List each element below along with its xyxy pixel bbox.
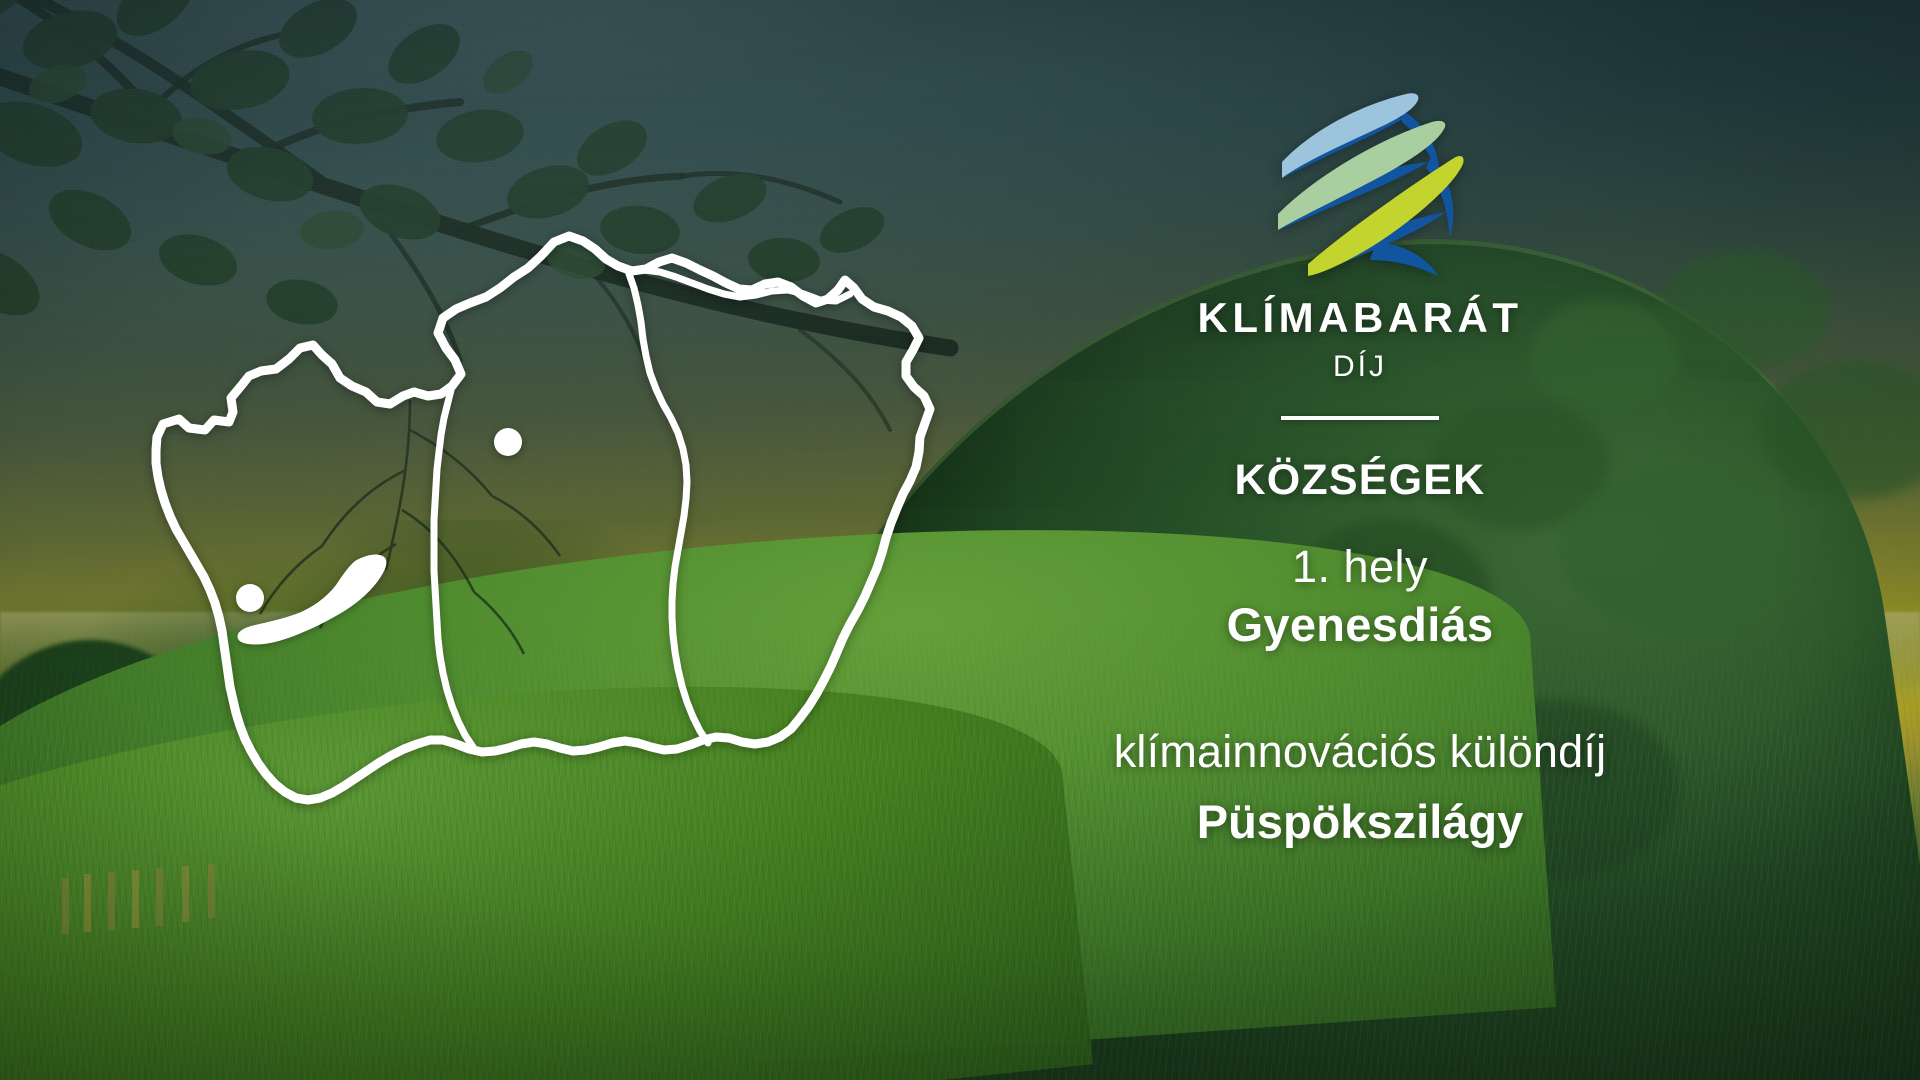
branch-svg xyxy=(0,0,1120,670)
special-award-label: klímainnovációs különdíj xyxy=(1114,726,1607,778)
award-winner: Gyenesdiás xyxy=(1227,597,1494,652)
tree-canopy-overlay xyxy=(0,0,1120,670)
special-award-winner: Püspökszilágy xyxy=(1197,794,1524,849)
logo-svg xyxy=(1256,66,1464,278)
spiral-globe-logo-icon xyxy=(1256,66,1464,278)
award-category: KÖZSÉGEK xyxy=(1235,456,1486,505)
bare-twigs xyxy=(260,400,560,654)
brand-subtitle: DÍJ xyxy=(1333,350,1387,384)
horizontal-rule-divider xyxy=(1281,416,1439,420)
brand-title: KLÍMABARÁT xyxy=(1198,294,1523,342)
award-panel: KLÍMABARÁT DÍJ KÖZSÉGEK 1. hely Gyenesdi… xyxy=(1000,0,1720,1080)
award-rank: 1. hely xyxy=(1292,541,1428,593)
slide-root: KLÍMABARÁT DÍJ KÖZSÉGEK 1. hely Gyenesdi… xyxy=(0,0,1920,1080)
